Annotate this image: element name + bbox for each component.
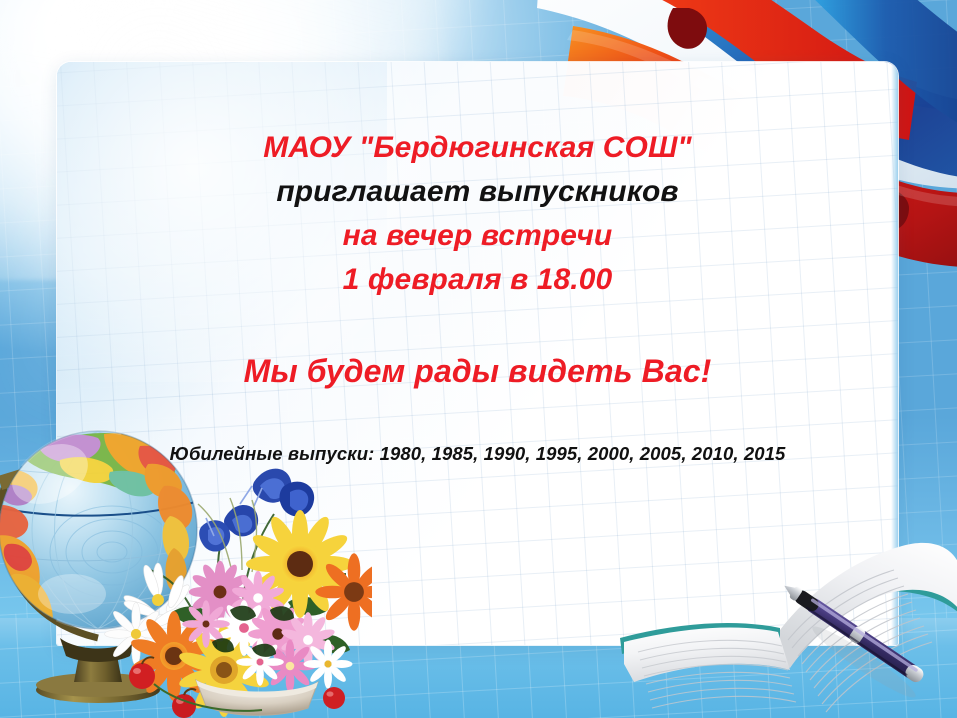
school-name-line: МАОУ "Бердюгинская СОШ" [57, 132, 898, 163]
invites-graduates-line: приглашает выпускников [57, 176, 898, 207]
invitation-poster: МАОУ "Бердюгинская СОШ" приглашает выпус… [0, 0, 957, 718]
welcome-message-line: Мы будем рады видеть Вас! [57, 355, 898, 388]
open-book-icon [612, 512, 957, 718]
flower-bouquet-icon [102, 452, 372, 718]
event-name-line: на вечер встречи [57, 220, 898, 251]
event-datetime-line: 1 февраля в 18.00 [57, 264, 898, 295]
